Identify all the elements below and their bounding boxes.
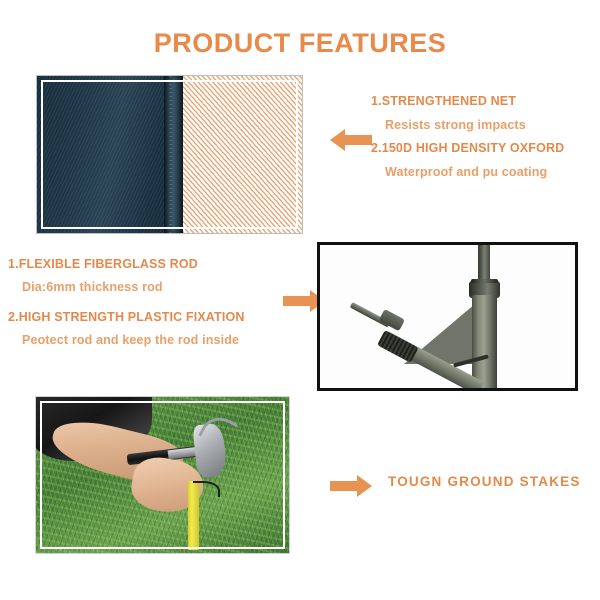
net-fabric-photo — [36, 75, 303, 234]
arrow-right-icon — [330, 472, 372, 500]
mesh-net-swatch — [183, 76, 302, 233]
feature-line: 1.STRENGTHENED NET — [371, 95, 564, 108]
feature-line: Waterproof and pu coating — [371, 166, 564, 179]
feature-line: Dia:6mm thickness rod — [8, 281, 245, 294]
feature-line: 1.FLEXIBLE FIBERGLASS ROD — [8, 258, 245, 271]
feature-text-net: 1.STRENGTHENED NET Resists strong impact… — [371, 95, 564, 189]
feature-line: 2.150D HIGH DENSITY OXFORD — [371, 142, 564, 155]
feature-text-stake: TOUGN GROUND STAKES — [388, 474, 581, 489]
feature-line: Peotect rod and keep the rod inside — [8, 334, 245, 347]
stake-cord — [193, 481, 220, 497]
feature-line: 2.HIGH STRENGTH PLASTIC FIXATION — [8, 311, 245, 324]
oxford-fabric-swatch — [37, 76, 183, 233]
feature-text-rod: 1.FLEXIBLE FIBERGLASS ROD Dia:6mm thickn… — [8, 258, 245, 346]
vertical-rod — [472, 295, 498, 391]
page-title: PRODUCT FEATURES — [0, 28, 600, 59]
fiberglass-rod-photo — [317, 242, 578, 391]
feature-line: Resists strong impacts — [371, 119, 564, 132]
arrow-left-icon — [330, 126, 372, 154]
fabric-seam — [164, 76, 183, 233]
feature-line: TOUGN GROUND STAKES — [388, 474, 581, 489]
ground-stake-photo — [35, 396, 290, 554]
rod-tip-collar — [378, 309, 404, 331]
product-features-infographic: PRODUCT FEATURES 1.STRENGTHENED NET Resi… — [0, 0, 600, 600]
